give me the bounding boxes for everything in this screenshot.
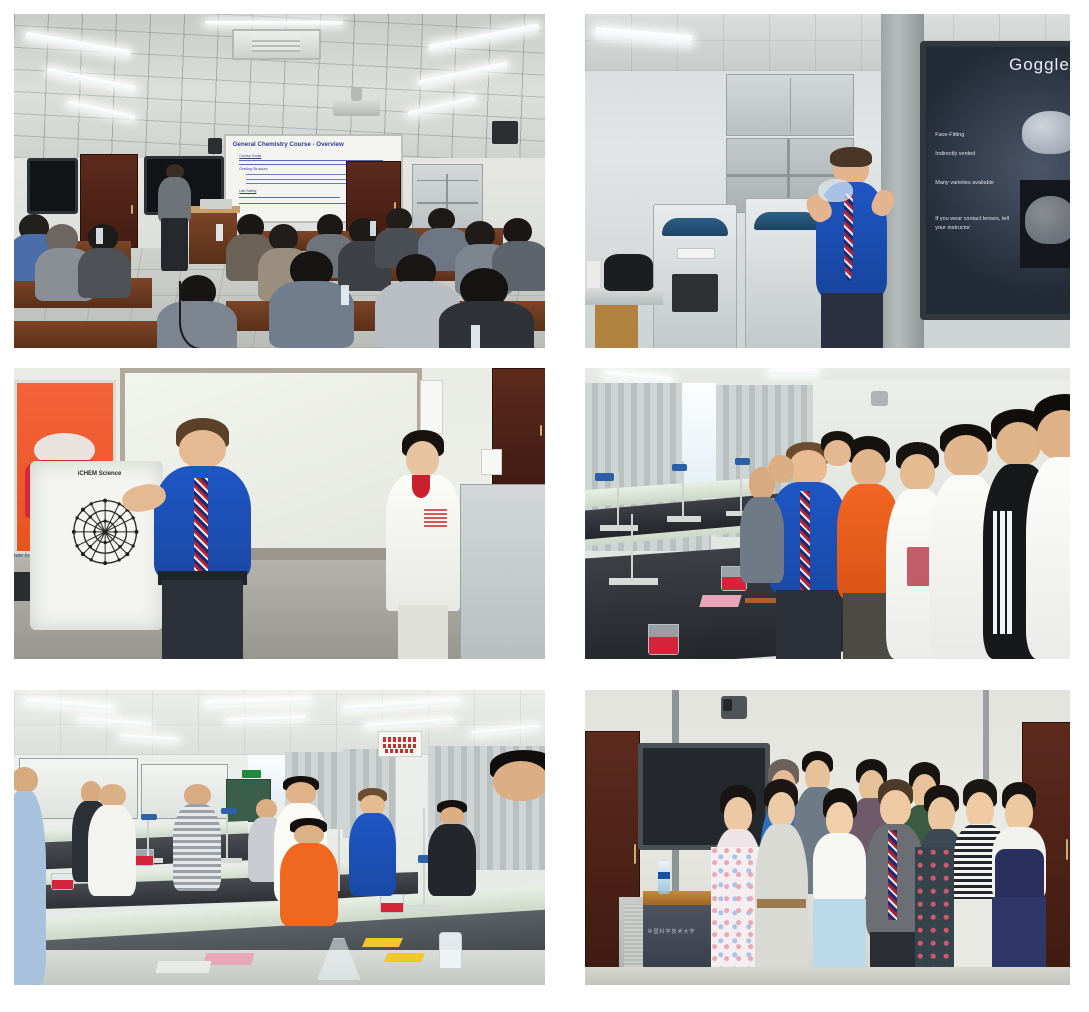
colleague-lab-coat: [386, 432, 460, 659]
slide-section-3: Lab Safety: [239, 189, 256, 193]
instructor-with-goggles: [813, 151, 891, 348]
water-bottle: [658, 861, 671, 893]
floor-marking-2: [384, 953, 425, 962]
photo-group-portrait: 中国科学技术大学: [585, 690, 1070, 985]
photo-goggles-demo: Goggles Face-Fitting Indirectly vented M…: [585, 14, 1070, 348]
door-right[interactable]: [492, 368, 545, 498]
photo-lab-demonstration: [585, 368, 1070, 659]
photo-tshirt-demo: SCIENCE Institute for Science iCHEM Scie…: [14, 368, 545, 659]
wall-speaker-left: [208, 138, 222, 155]
backpack: [604, 254, 653, 291]
slide-bullet-2: Indirectly vented: [935, 151, 975, 157]
instructor-holding-shirt: [152, 420, 253, 659]
labcoat-embroidery: [424, 509, 446, 527]
person-front-6: [992, 784, 1045, 985]
slide-title-goggles: Goggles: [1009, 55, 1070, 75]
security-camera: [871, 391, 888, 406]
podium-institution-label: 中国科学技术大学: [648, 928, 696, 935]
wall-display-far-left: [27, 158, 78, 214]
patterned-tie: [844, 194, 853, 281]
ceiling-air-conditioner: [232, 29, 321, 60]
water-purifier-left: [653, 204, 737, 348]
slide-bullet-1: Face-Fitting: [935, 132, 964, 138]
slide-bullet-3: Many varieties available: [935, 180, 994, 186]
beaker-red-solution-2: [648, 624, 679, 655]
student-foreground: [1026, 397, 1070, 659]
person-front-2: [755, 781, 808, 985]
wall-speaker-right: [492, 121, 519, 144]
slide-section-1: Course Goals: [239, 154, 261, 158]
student-foreground-left: [14, 767, 46, 985]
slide-section-2: Grading Structure: [239, 167, 267, 171]
photo-lab-wide-view: [14, 690, 545, 985]
slide-bullet-4: If you wear contact lenses, tell your in…: [935, 215, 1018, 234]
pink-paper: [700, 595, 742, 607]
photo-collage: General Chemistry Course - Overview Cour…: [0, 0, 1089, 1012]
instructor: [157, 164, 192, 271]
exit-sign: [242, 770, 261, 779]
safety-goggles: [818, 179, 854, 203]
patterned-tie: [888, 830, 896, 920]
presentation-display: Goggles Face-Fitting Indirectly vented M…: [920, 41, 1070, 320]
floor-marking-1: [362, 938, 403, 947]
patterned-tie: [194, 478, 207, 578]
instructor-blue-shirt: [349, 790, 397, 896]
shirt-print-label: iCHEM Science: [78, 471, 122, 477]
person-front-3: [813, 790, 866, 985]
pink-notebook: [204, 953, 255, 965]
fridge-cabinet: [460, 484, 545, 659]
photo-lecture-hall: General Chemistry Course - Overview Cour…: [14, 14, 545, 348]
wall-safety-sign: [378, 731, 422, 757]
ceiling-camera: [721, 696, 748, 720]
student-foreground-right: [481, 752, 545, 985]
slide-title: General Chemistry Course - Overview: [233, 141, 344, 149]
student-orange-shirt: [280, 820, 338, 926]
wall-cabinet: [726, 74, 854, 136]
wash-bottle: [439, 932, 462, 969]
